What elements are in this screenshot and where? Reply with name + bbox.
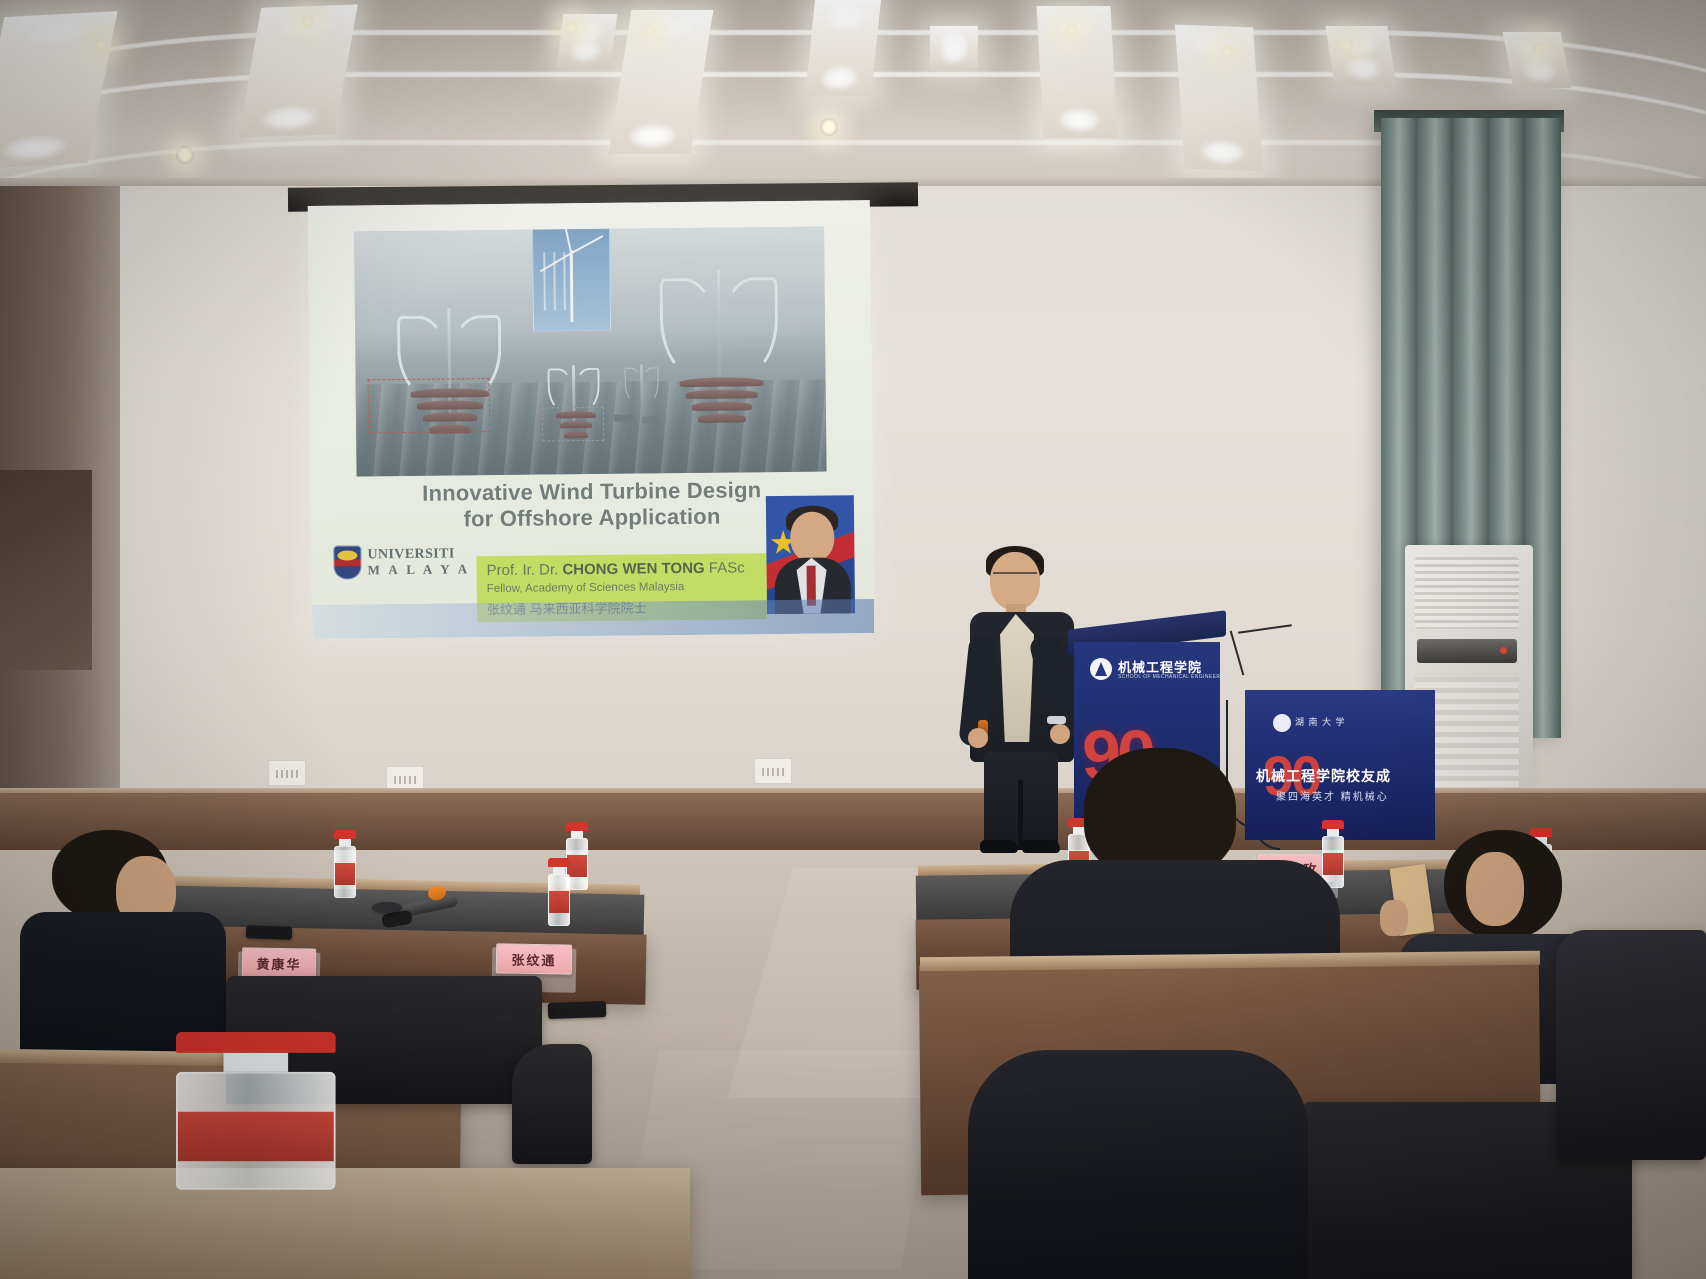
turbine-blade <box>641 367 658 403</box>
slide-inset-photo <box>532 227 611 332</box>
turbine-blade <box>571 235 604 254</box>
um-line-2: M A L A Y A <box>367 561 470 577</box>
smartphone[interactable] <box>548 1001 607 1019</box>
chair-back-left-2[interactable] <box>512 1044 592 1164</box>
bottle-neck <box>571 831 583 838</box>
highlight-dashed-box <box>542 407 604 442</box>
desk-hole-cover <box>372 902 402 913</box>
turbine-blade <box>573 368 599 411</box>
ceiling-spotlight <box>92 36 110 54</box>
left-wall-dark-panel <box>0 470 92 670</box>
presentation-slide: Innovative Wind Turbine Design for Offsh… <box>308 200 875 639</box>
platform-tower <box>670 377 774 426</box>
bottle-label <box>178 1112 334 1161</box>
bottle-neck <box>339 839 351 846</box>
tower-tier <box>686 389 758 399</box>
ceiling-spotlight <box>1062 20 1080 38</box>
ceiling-light <box>930 26 978 70</box>
bottle-cap <box>176 1032 336 1053</box>
name-placard-2: 张纹通 <box>496 943 573 974</box>
turbine-blade <box>660 278 720 378</box>
speaker-name-line: Prof. Ir. Dr. CHONG WEN TONG FASc <box>486 559 744 579</box>
ceiling-spotlight <box>1338 36 1356 54</box>
ac-grille <box>1415 557 1519 629</box>
smartphone[interactable] <box>246 925 292 940</box>
ceiling-spotlight <box>176 146 194 164</box>
ac-power-indicator <box>1500 647 1507 654</box>
bottle-body <box>334 846 356 898</box>
audience-torso <box>968 1050 1308 1279</box>
water-bottle[interactable] <box>334 830 356 898</box>
bottle-label <box>549 891 569 913</box>
audience-member-foreground <box>968 1050 1308 1279</box>
audience-face <box>1466 852 1524 926</box>
speaker-name: CHONG WEN TONG <box>562 560 704 578</box>
portrait-face <box>790 511 835 561</box>
bottle-body <box>176 1072 336 1190</box>
highlight-dashed-box <box>368 378 491 433</box>
ceiling-light <box>1325 26 1397 86</box>
presenter-right-hand <box>1050 724 1070 744</box>
wall-outlet[interactable] <box>754 758 792 784</box>
ac-control-panel[interactable] <box>1417 639 1517 663</box>
turbine-blade <box>719 277 779 377</box>
ceiling-spotlight <box>1218 42 1236 60</box>
bottle-neck <box>553 867 565 874</box>
name-placard-1: 黄康华 <box>242 947 317 978</box>
water-bottle[interactable] <box>176 1032 336 1190</box>
speaker-title-prefix: Prof. Ir. Dr. <box>486 561 562 579</box>
tower-tier <box>698 413 746 423</box>
bottle-label <box>335 863 355 885</box>
audience-member-left <box>20 830 220 1050</box>
water-bottle[interactable] <box>548 858 570 926</box>
school-emblem-icon <box>1090 658 1112 680</box>
tower-tier <box>680 377 764 387</box>
turbine-blade <box>562 227 572 254</box>
presenter-head <box>990 552 1040 610</box>
bottle-cap <box>566 822 588 831</box>
universiti-malaya-crest-icon <box>333 545 361 579</box>
tower-tier <box>692 401 752 411</box>
bottle-cap <box>548 858 570 867</box>
speaker-portrait <box>766 495 855 614</box>
bottle-body <box>548 874 570 926</box>
foreground-desk[interactable] <box>0 1168 690 1279</box>
ceiling-light <box>805 0 881 96</box>
slide-footer-band <box>312 599 874 639</box>
audience-hand <box>1380 900 1408 936</box>
bottle-neck <box>224 1053 289 1072</box>
ceiling-spotlight <box>640 22 658 40</box>
slide-hero-image <box>354 227 827 477</box>
ship <box>642 416 658 423</box>
lectern-organization-en: SCHOOL OF MECHANICAL ENGINEERING <box>1118 674 1230 680</box>
um-line-1: UNIVERSITI <box>367 546 470 562</box>
ceiling-spotlight <box>562 18 580 36</box>
ceiling-spotlight <box>820 118 838 136</box>
vertical-axis-turbine-far <box>623 364 660 412</box>
far-turbine <box>543 252 546 310</box>
speaker-affiliation: Fellow, Academy of Sciences Malaysia <box>487 581 685 595</box>
bottle-cap <box>334 830 356 839</box>
turbine-mast <box>570 250 574 322</box>
ship <box>614 415 636 422</box>
wristwatch <box>1047 716 1066 724</box>
far-turbine <box>563 252 566 310</box>
chair-back-right-2[interactable] <box>1556 930 1706 1160</box>
ceiling-spotlight <box>1530 40 1548 58</box>
turbine-blade <box>548 369 574 412</box>
presenter-shirt <box>1000 614 1034 742</box>
ceiling-spotlight <box>298 12 316 30</box>
audience-hair <box>1084 748 1236 878</box>
bottle-label <box>567 855 587 877</box>
speaker-postnominal: FASc <box>705 559 745 576</box>
wall-outlet[interactable] <box>268 760 306 786</box>
universiti-malaya-wordmark: UNIVERSITI M A L A Y A <box>367 546 470 577</box>
projection-screen: Innovative Wind Turbine Design for Offsh… <box>308 200 875 639</box>
glasses-icon <box>993 572 1037 581</box>
presenter-left-hand <box>968 728 988 748</box>
lecture-hall-photo: Innovative Wind Turbine Design for Offsh… <box>0 0 1706 1279</box>
